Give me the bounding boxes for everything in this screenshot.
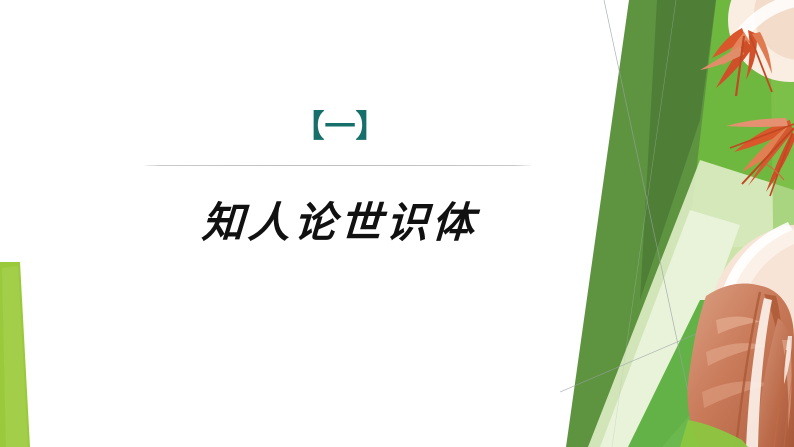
white-gap-stroke-small	[784, 336, 792, 384]
green-panel-bright-bottom-2	[662, 352, 794, 447]
peach-circle-top	[728, 0, 794, 82]
orange-stem-bottom-2	[784, 362, 794, 447]
terracotta-leaf-large-vein	[736, 292, 760, 447]
green-panel-accent-right	[770, 0, 794, 447]
cream-arc-top	[728, 0, 794, 48]
terracotta-leaf-large	[688, 284, 794, 447]
terracotta-leaf-large-shadow	[764, 294, 782, 382]
orange-stem-bottom-1	[774, 350, 786, 447]
terracotta-leaf-large-highlight-2	[706, 343, 766, 366]
cream-crescent-mid	[716, 226, 794, 336]
terracotta-leaf-right	[756, 318, 794, 447]
cream-circle-top-inner	[754, 0, 794, 60]
white-gap-stroke	[746, 298, 772, 447]
orange-stroke-small	[766, 164, 784, 180]
white-crescent-mid	[714, 222, 792, 340]
section-number-badge: 【一】	[0, 112, 680, 143]
green-sliver-bottom	[680, 420, 748, 447]
peach-circle-mid	[710, 224, 794, 416]
orange-spiky-flower-top	[700, 28, 772, 96]
terracotta-leaf-large-highlight-1	[716, 316, 760, 334]
orange-spiky-flower-mid	[726, 118, 794, 196]
terracotta-leaf-right-highlight	[782, 340, 792, 430]
terracotta-leaf-large-highlight-3	[702, 381, 772, 408]
title-divider-line	[145, 165, 530, 166]
page-title: 知人论世识体	[0, 197, 681, 250]
slide-text-content: 【一】 知人论世识体	[0, 0, 680, 447]
slide-canvas: 【一】 知人论世识体	[0, 0, 794, 447]
